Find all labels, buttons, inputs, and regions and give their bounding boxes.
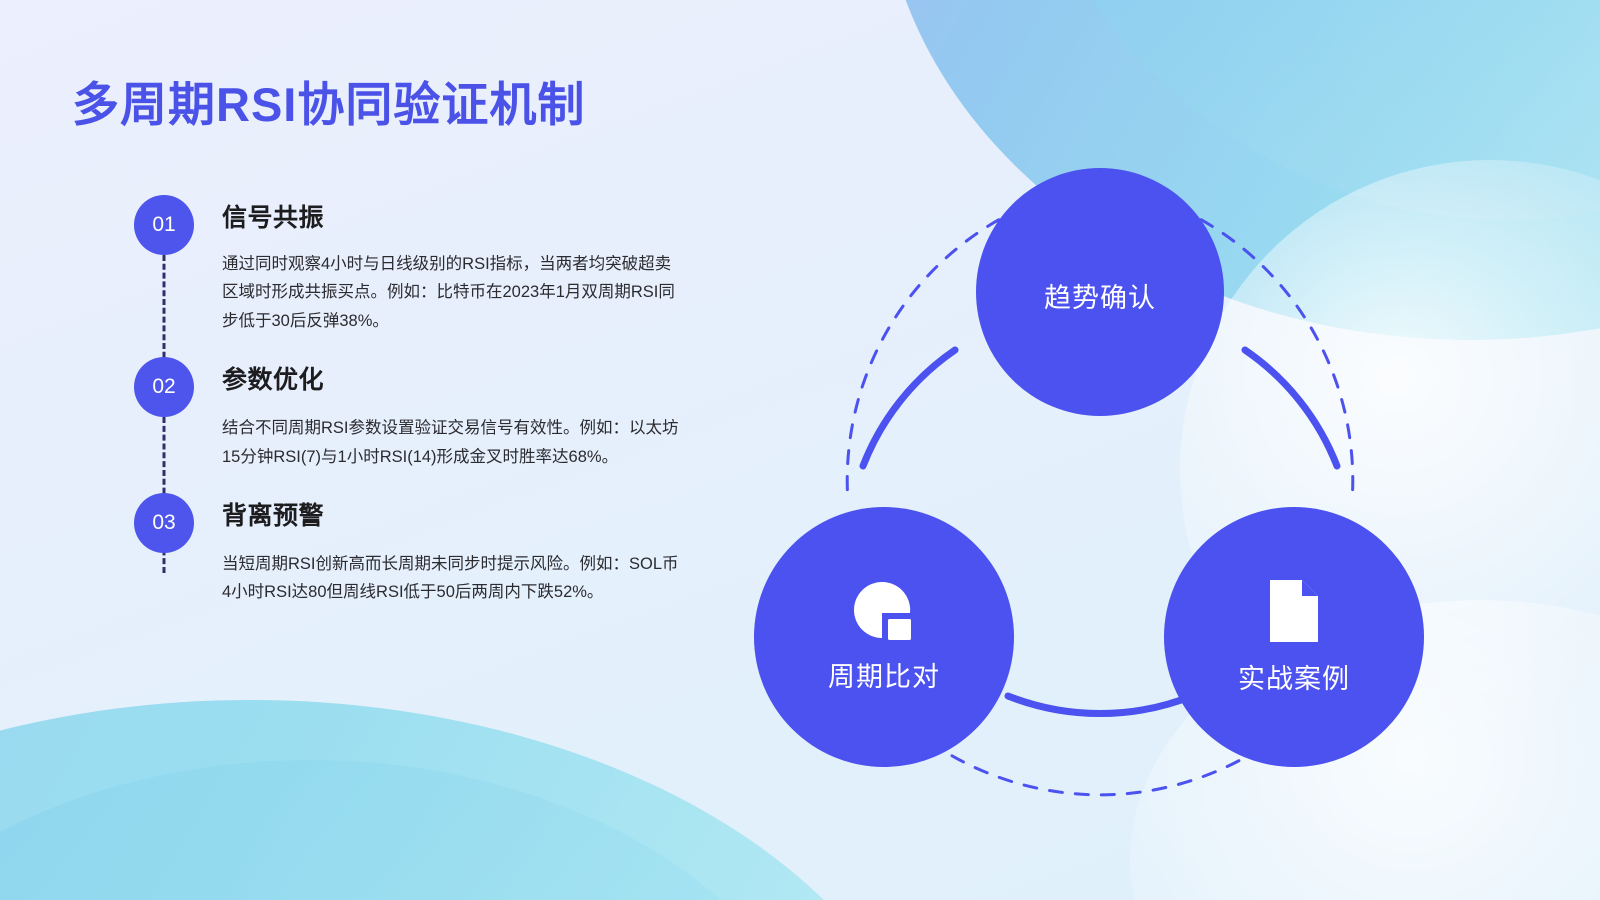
diagram-node-case-study[interactable]: 实战案例 [1164, 507, 1424, 767]
badge-column: 02 [128, 357, 200, 417]
pie-chart-icon [852, 580, 916, 647]
dashed-arc-bottom [930, 742, 1270, 795]
timeline-step[interactable]: 01 信号共振 通过同时观察4小时与日线级别的RSI指标，当两者均突破超卖区域时… [128, 195, 688, 335]
step-body: 背离预警 当短周期RSI创新高而长周期未同步时提示风险。例如：SOL币4小时RS… [200, 493, 682, 607]
step-body: 参数优化 结合不同周期RSI参数设置验证交易信号有效性。例如：以太坊15分钟RS… [200, 357, 682, 471]
diagram-node-cycle-comparison[interactable]: 周期比对 [754, 507, 1014, 767]
step-heading: 信号共振 [222, 198, 682, 234]
step-description: 通过同时观察4小时与日线级别的RSI指标，当两者均突破超卖区域时形成共振买点。例… [222, 250, 682, 335]
slide-root: 多周期RSI协同验证机制 01 信号共振 通过同时观察4小时与日线级别的RSI指… [0, 0, 1600, 900]
timeline-step[interactable]: 02 参数优化 结合不同周期RSI参数设置验证交易信号有效性。例如：以太坊15分… [128, 357, 688, 471]
timeline-list: 01 信号共振 通过同时观察4小时与日线级别的RSI指标，当两者均突破超卖区域时… [128, 195, 688, 607]
step-description: 结合不同周期RSI参数设置验证交易信号有效性。例如：以太坊15分钟RSI(7)与… [222, 414, 682, 471]
blob-bottom-left-secondary [0, 760, 840, 900]
node-label: 实战案例 [1238, 663, 1350, 696]
solid-arc-top-right [1245, 350, 1337, 466]
solid-arc-top-left [863, 350, 955, 466]
step-body: 信号共振 通过同时观察4小时与日线级别的RSI指标，当两者均突破超卖区域时形成共… [200, 195, 682, 335]
node-label: 趋势确认 [1044, 282, 1156, 315]
document-icon [1268, 578, 1320, 649]
step-number-badge: 02 [134, 357, 194, 417]
solid-arc-bottom [1008, 696, 1192, 714]
badge-column: 03 [128, 493, 200, 553]
step-description: 当短周期RSI创新高而长周期未同步时提示风险。例如：SOL币4小时RSI达80但… [222, 550, 682, 607]
step-heading: 参数优化 [222, 360, 682, 396]
cycle-diagram: 趋势确认 周期比对 实战案例 [740, 150, 1460, 810]
diagram-node-trend-confirmation[interactable]: 趋势确认 [976, 168, 1224, 416]
timeline-step[interactable]: 03 背离预警 当短周期RSI创新高而长周期未同步时提示风险。例如：SOL币4小… [128, 493, 688, 607]
step-number-badge: 01 [134, 195, 194, 255]
node-label: 周期比对 [828, 661, 940, 694]
step-number-badge: 03 [134, 493, 194, 553]
step-heading: 背离预警 [222, 496, 682, 532]
page-title: 多周期RSI协同验证机制 [72, 66, 585, 135]
badge-column: 01 [128, 195, 200, 255]
